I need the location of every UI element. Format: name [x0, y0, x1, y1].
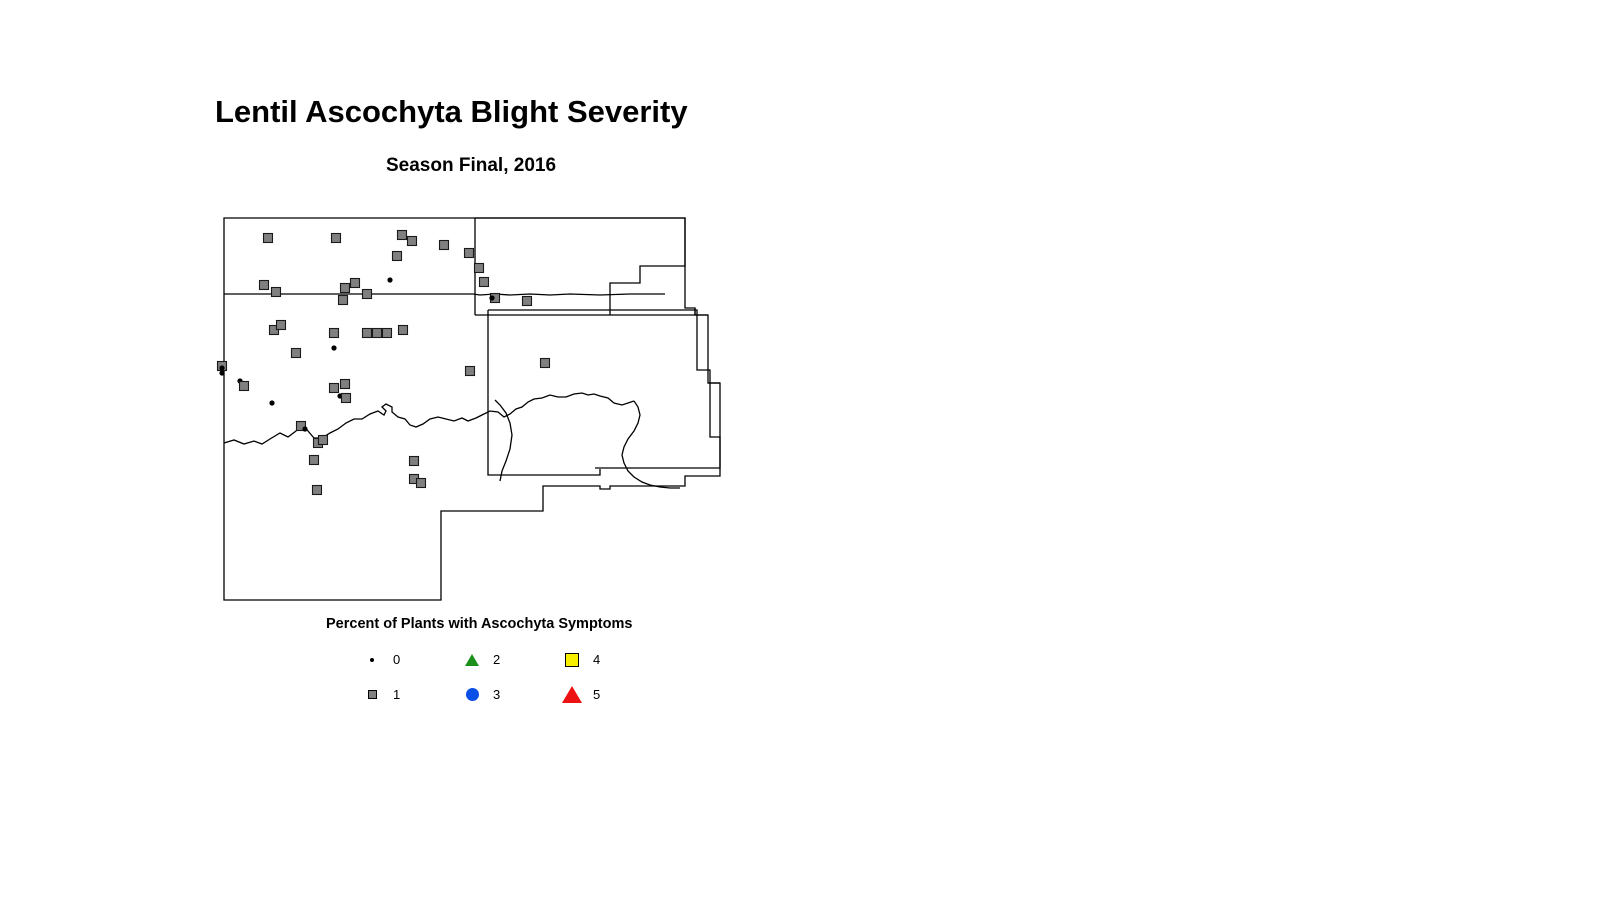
map-point-severity-1 [475, 264, 484, 273]
map-point-severity-1 [240, 382, 249, 391]
map-point-severity-0 [387, 277, 392, 282]
legend-label-5: 5 [593, 687, 600, 702]
map-point-severity-0 [302, 426, 307, 431]
black-dot-icon [360, 648, 384, 672]
chart-page: Lentil Ascochyta Blight Severity Season … [0, 0, 1612, 900]
map-point-severity-1 [332, 234, 341, 243]
legend: Percent of Plants with Ascochyta Symptom… [210, 612, 750, 712]
map-point-severity-1 [410, 457, 419, 466]
legend-item-1[interactable]: 1 [360, 677, 460, 712]
map-boundaries-east [488, 310, 720, 475]
map-point-severity-1 [399, 326, 408, 335]
green-triangle-icon [460, 648, 484, 672]
page-title: Lentil Ascochyta Blight Severity [215, 94, 688, 130]
map-panel [210, 205, 750, 615]
legend-label-2: 2 [493, 652, 500, 667]
map-data-points [218, 231, 550, 495]
legend-label-4: 4 [593, 652, 600, 667]
legend-item-4[interactable]: 4 [560, 642, 660, 677]
legend-label-3: 3 [493, 687, 500, 702]
map-point-severity-1 [373, 329, 382, 338]
legend-row-bottom: 1 3 5 [360, 677, 690, 712]
legend-title: Percent of Plants with Ascochyta Symptom… [326, 616, 632, 632]
map-point-severity-1 [341, 380, 350, 389]
legend-item-0[interactable]: 0 [360, 642, 460, 677]
map-point-severity-1 [383, 329, 392, 338]
blue-circle-icon [460, 683, 484, 707]
map-point-severity-1 [319, 436, 328, 445]
map-point-severity-1 [480, 278, 489, 287]
map-point-severity-1 [440, 241, 449, 250]
legend-item-2[interactable]: 2 [460, 642, 560, 677]
legend-item-5[interactable]: 5 [560, 677, 660, 712]
map-point-severity-1 [342, 394, 351, 403]
map-point-severity-1 [339, 296, 348, 305]
map-point-severity-1 [330, 384, 339, 393]
map-point-severity-1 [363, 329, 372, 338]
map-point-severity-1 [523, 297, 532, 306]
map-point-severity-1 [398, 231, 407, 240]
map-point-severity-1 [408, 237, 417, 246]
map-point-severity-1 [393, 252, 402, 261]
map-point-severity-0 [489, 295, 494, 300]
map-point-severity-1 [465, 249, 474, 258]
map-point-severity-1 [417, 479, 426, 488]
yellow-square-icon [560, 648, 584, 672]
map-point-severity-0 [331, 345, 336, 350]
map-point-severity-1 [310, 456, 319, 465]
map-boundaries [224, 218, 720, 600]
map-point-severity-1 [541, 359, 550, 368]
map-point-severity-1 [466, 367, 475, 376]
legend-grid: 0 2 4 1 3 [360, 642, 690, 712]
legend-label-0: 0 [393, 652, 400, 667]
map-point-severity-1 [330, 329, 339, 338]
red-triangle-icon [560, 683, 584, 707]
map-point-severity-1 [272, 288, 281, 297]
map-point-severity-1 [351, 279, 360, 288]
map-point-severity-0 [219, 365, 224, 370]
legend-row-top: 0 2 4 [360, 642, 690, 677]
map-point-severity-1 [277, 321, 286, 330]
gray-square-icon [360, 683, 384, 707]
page-subtitle: Season Final, 2016 [386, 155, 556, 177]
map-point-severity-1 [313, 486, 322, 495]
map-svg [210, 205, 750, 615]
map-point-severity-1 [341, 284, 350, 293]
map-point-severity-0 [269, 400, 274, 405]
map-point-severity-1 [292, 349, 301, 358]
legend-label-1: 1 [393, 687, 400, 702]
map-point-severity-1 [260, 281, 269, 290]
map-point-severity-0 [219, 370, 224, 375]
map-point-severity-1 [264, 234, 273, 243]
legend-item-3[interactable]: 3 [460, 677, 560, 712]
map-point-severity-1 [363, 290, 372, 299]
